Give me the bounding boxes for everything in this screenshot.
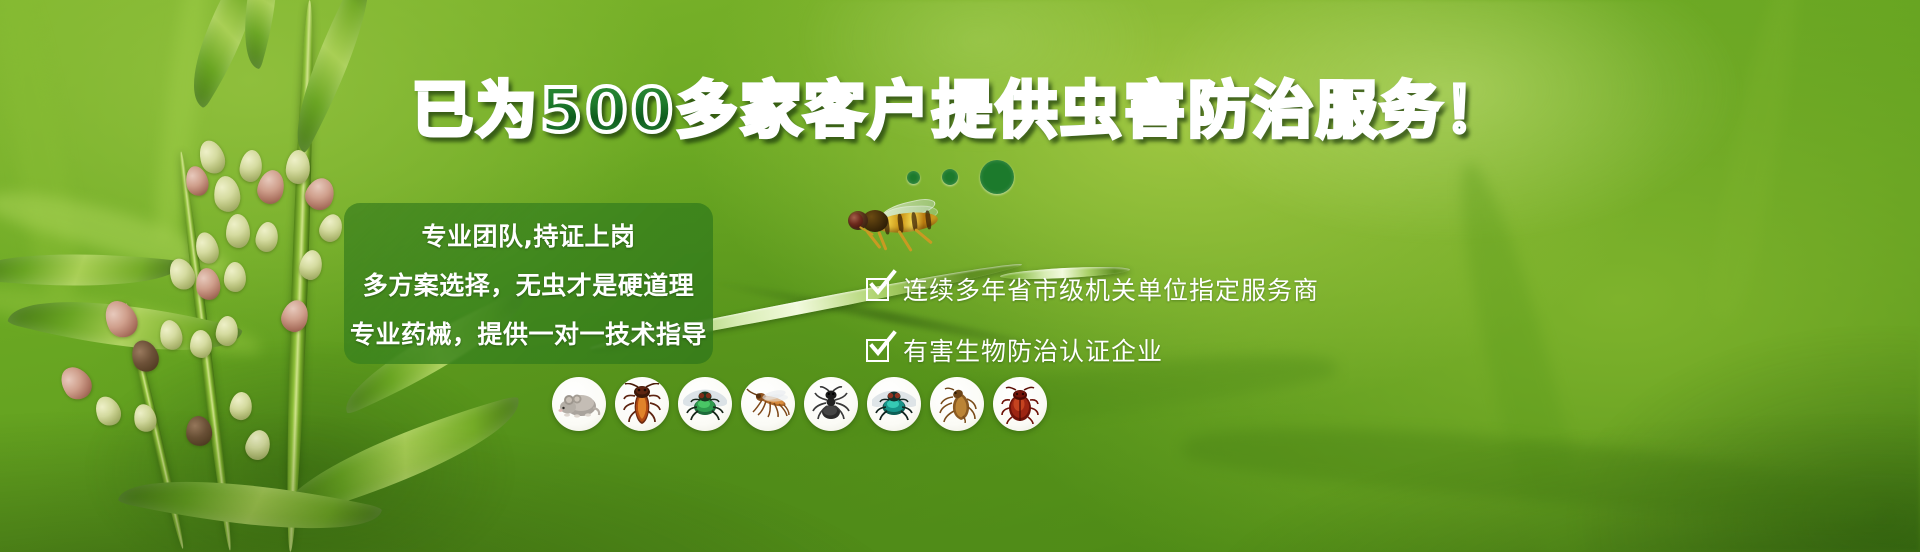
plant-bud xyxy=(278,297,313,335)
credential-text: 连续多年省市级机关单位指定服务商 xyxy=(903,271,1319,307)
feature-line-2: 多方案选择，无虫才是硬道理 xyxy=(363,266,695,302)
plant-bud xyxy=(226,214,250,248)
plant-bud xyxy=(254,220,281,253)
checkbox-checked-icon xyxy=(866,278,889,301)
feature-line-1: 专业团队,持证上岗 xyxy=(422,217,636,253)
fly-stripe xyxy=(925,210,932,229)
plant-bud xyxy=(242,427,273,462)
plant-bud xyxy=(316,211,346,245)
feature-line-3: 专业药械，提供一对一技术指导 xyxy=(350,315,707,351)
list-item: 连续多年省市级机关单位指定服务商 xyxy=(866,271,1319,307)
page-title: 已为500多家客户提供虫害防治服务！ xyxy=(0,80,1920,141)
promo-banner: 已为500多家客户提供虫害防治服务！ 已为500多家客户提供虫害防治服务！ 专业… xyxy=(0,0,1920,552)
mouse-icon[interactable] xyxy=(552,377,606,431)
blowfly-icon[interactable] xyxy=(867,377,921,431)
plant-bud xyxy=(55,361,97,405)
features-panel-lines: 专业团队,持证上岗 多方案选择，无虫才是硬道理 专业药械，提供一对一技术指导 xyxy=(344,203,713,364)
plant-leaf xyxy=(0,239,182,301)
decorative-dots xyxy=(0,160,1920,194)
fly-leg xyxy=(897,230,912,252)
cockroach-icon[interactable] xyxy=(615,377,669,431)
hoverfly-illustration xyxy=(846,200,946,252)
decorative-dot xyxy=(907,171,920,184)
plant-bud xyxy=(190,330,212,358)
ant-icon[interactable] xyxy=(804,377,858,431)
plant-bud xyxy=(223,262,246,293)
list-item: 有害生物防治认证企业 xyxy=(866,332,1319,368)
credential-text: 有害生物防治认证企业 xyxy=(903,332,1163,368)
flea-icon[interactable] xyxy=(930,377,984,431)
features-panel: 专业团队,持证上岗 多方案选择，无虫才是硬道理 专业药械，提供一对一技术指导 xyxy=(344,203,713,364)
fly-leg xyxy=(914,228,933,244)
checkbox-checked-icon xyxy=(866,339,889,362)
plant-bud xyxy=(228,391,254,422)
credentials-list: 连续多年省市级机关单位指定服务商 有害生物防治认证企业 xyxy=(866,271,1319,368)
plant-bud xyxy=(214,315,239,347)
pest-icons-row xyxy=(552,377,1047,431)
housefly-icon[interactable] xyxy=(678,377,732,431)
decorative-dot xyxy=(980,160,1014,194)
plant-bud xyxy=(91,393,124,430)
bedbug-icon[interactable] xyxy=(993,377,1047,431)
decorative-dot xyxy=(942,169,958,185)
mosquito-icon[interactable] xyxy=(741,377,795,431)
